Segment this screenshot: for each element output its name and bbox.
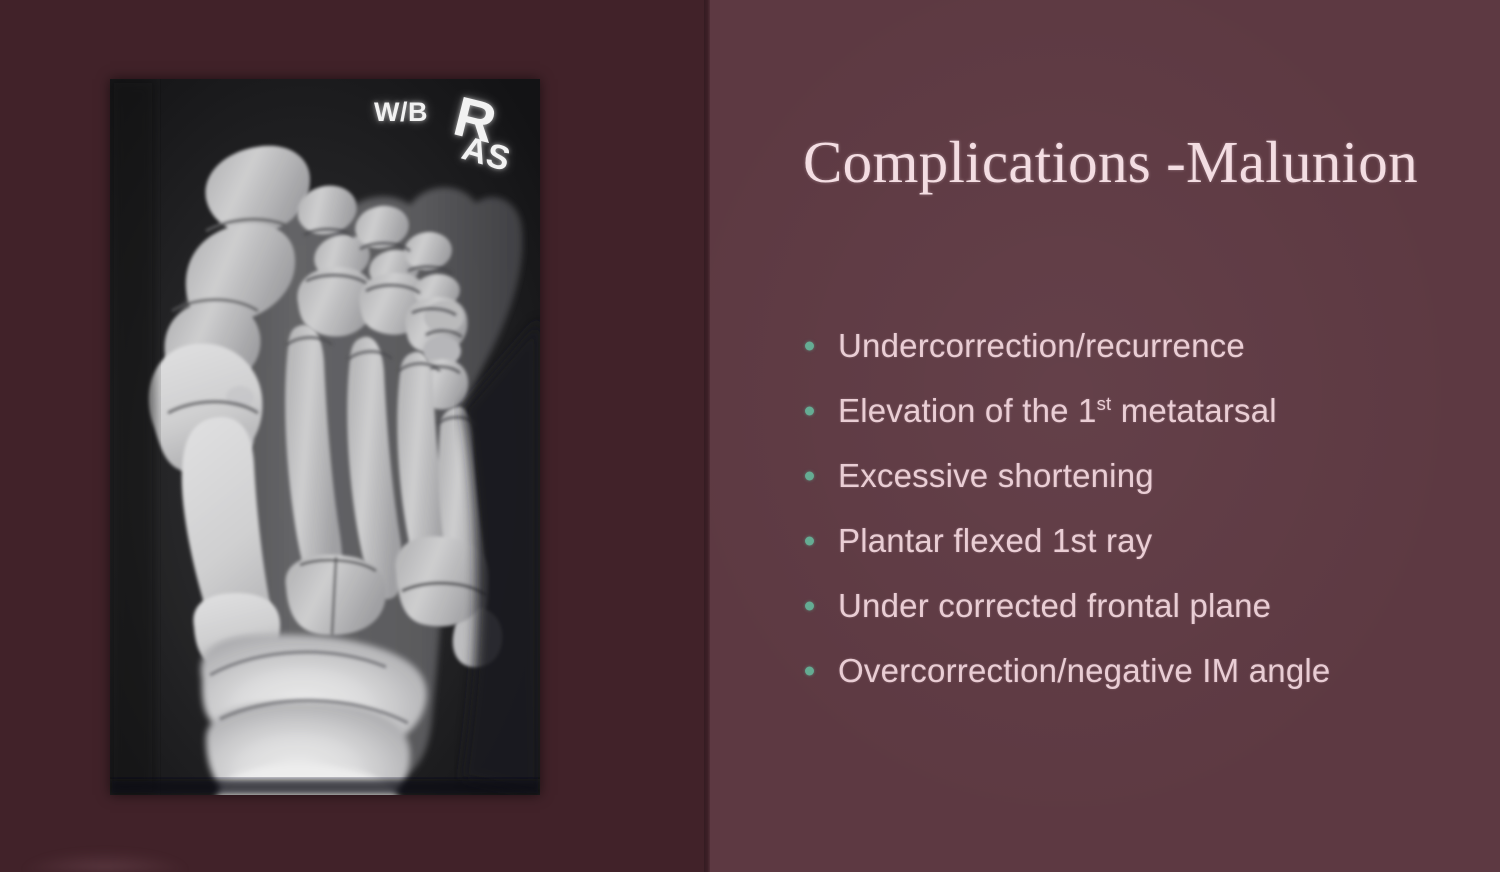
xray-foot-graphic: [110, 79, 540, 795]
list-item: Elevation of the 1st metatarsal: [798, 387, 1488, 435]
bullet-label-frontal-plane: Under corrected frontal plane: [838, 587, 1271, 625]
list-item: Overcorrection/negative IM angle: [798, 647, 1488, 695]
bullet-marker-icon: [805, 667, 814, 676]
presentation-slide: W/B R AS Complications -Malunion Underco…: [0, 0, 1500, 872]
bullet-marker-icon: [805, 407, 814, 416]
bullet-label-undercorrection: Undercorrection/recurrence: [838, 327, 1245, 365]
bullet-marker-icon: [805, 537, 814, 546]
bullet-label-shortening: Excessive shortening: [838, 457, 1154, 495]
page-title: Complications -Malunion: [803, 128, 1483, 197]
list-item: Under corrected frontal plane: [798, 582, 1488, 630]
complications-bullet-list: Undercorrection/recurrence Elevation of …: [798, 322, 1488, 712]
right-content-panel: Complications -Malunion Undercorrection/…: [710, 0, 1500, 872]
xray-marker-weight-bearing: W/B: [374, 97, 428, 128]
bullet-label-elevation: Elevation of the 1st metatarsal: [838, 392, 1277, 430]
bottom-left-artifact: [20, 850, 190, 872]
list-item: Excessive shortening: [798, 452, 1488, 500]
bullet-marker-icon: [805, 342, 814, 351]
bullet-marker-icon: [805, 602, 814, 611]
bullet-label-plantar-flexed: Plantar flexed 1st ray: [838, 522, 1152, 560]
list-item: Undercorrection/recurrence: [798, 322, 1488, 370]
bullet-label-overcorrection: Overcorrection/negative IM angle: [838, 652, 1330, 690]
list-item: Plantar flexed 1st ray: [798, 517, 1488, 565]
xray-radiograph-image: W/B R AS: [110, 79, 540, 795]
bullet-marker-icon: [805, 472, 814, 481]
ordinal-superscript: st: [1097, 393, 1112, 414]
